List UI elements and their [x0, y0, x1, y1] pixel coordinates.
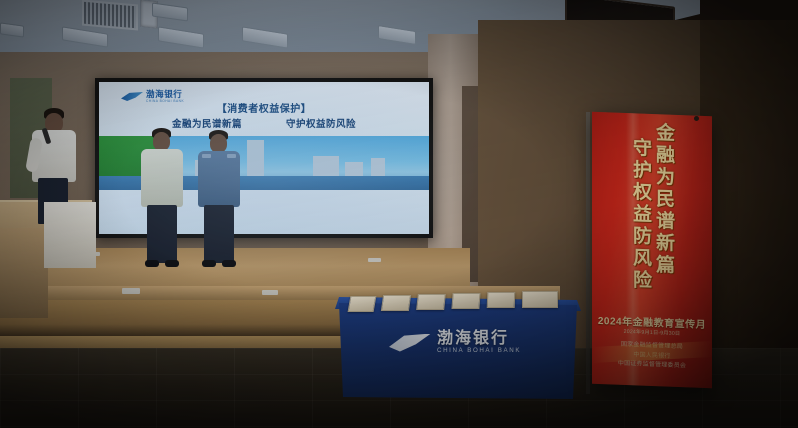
banner-stand — [586, 112, 590, 394]
promotional-banner: 金融为民谱新篇 守护权益防风险 2024年金融教育宣传月 2024年9月1日-9… — [592, 112, 712, 389]
brochure-item — [348, 296, 377, 312]
brochure-item — [381, 295, 411, 311]
torso-shirt — [141, 149, 183, 207]
presenter-left — [137, 128, 189, 268]
brochure-item — [487, 292, 516, 308]
legs-icon — [147, 205, 177, 263]
bohai-swoosh-icon — [389, 334, 431, 352]
podium-side-panel — [0, 228, 48, 318]
table-logo-en: CHINA BOHAI BANK — [437, 347, 521, 355]
paper-on-floor — [368, 258, 381, 262]
slide-title: 【消费者权益保护】 — [99, 100, 429, 115]
podium-front-panel — [44, 202, 96, 268]
banner-corner-clip — [694, 116, 699, 121]
uniform-epaulette-icon — [202, 154, 211, 158]
brochure-item — [451, 293, 480, 309]
slide-logo-cn: 渤海银行 — [146, 90, 184, 99]
banner-column-right: 金融为民谱新篇 — [654, 122, 673, 313]
uniform-epaulette-icon — [227, 154, 236, 158]
right-wall-shadow — [700, 20, 798, 388]
photo-scene: 渤海银行 CHINA BOHAI BANK 【消费者权益保护】 金融为民谱新篇 … — [0, 0, 798, 428]
banner-column-left: 守护权益防风险 — [631, 137, 650, 312]
table-logo-cn: 渤海银行 — [437, 330, 521, 347]
building-icon — [247, 140, 264, 180]
shoe-icon — [145, 260, 159, 267]
shoe-icon — [165, 260, 179, 267]
slide-subtitle-right: 守护权益防风险 — [286, 116, 356, 130]
paper-on-floor — [262, 290, 278, 295]
legs-icon — [204, 205, 234, 263]
shoe-icon — [202, 260, 216, 267]
brochure-item — [416, 294, 446, 310]
brochure-item — [522, 291, 558, 308]
air-conditioning-vent-icon — [82, 0, 138, 30]
presenter-right — [194, 130, 246, 268]
paper-on-floor — [122, 288, 140, 294]
torso-uniform — [198, 151, 240, 207]
banner-headline-columns: 金融为民谱新篇 守护权益防风险 — [592, 120, 712, 315]
table-bank-logo: 渤海银行 CHINA BOHAI BANK — [389, 330, 575, 355]
shoe-icon — [222, 260, 236, 267]
